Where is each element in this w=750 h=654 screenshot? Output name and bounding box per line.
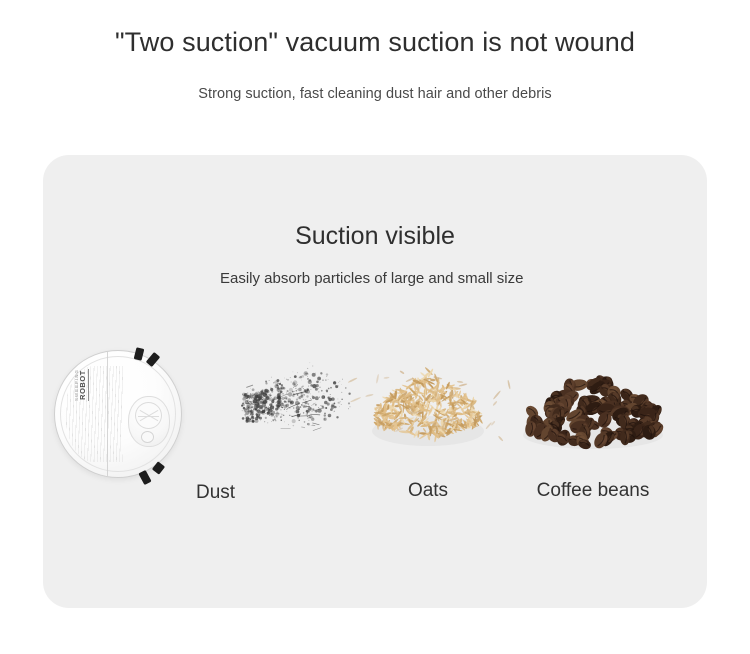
sample-coffee-beans: Coffee beans [483,335,703,520]
robot-fan-icon [135,402,162,429]
sample-row: SWEEPING ROBOT [43,335,707,520]
robot-brand-line-2: ROBOT [79,369,89,401]
robot-body: SWEEPING ROBOT [54,350,182,478]
robot-fan-bar [138,416,159,417]
card-title: Suction visible [43,222,707,251]
robot-brand-label: SWEEPING ROBOT [74,369,89,401]
sample-label-coffee-beans: Coffee beans [483,480,703,502]
product-feature-page: "Two suction" vacuum suction is not woun… [0,0,750,654]
robot-control-panel [128,396,170,446]
sample-label-dust: Dust [196,482,316,504]
robot-power-button [141,431,154,444]
page-subheadline: Strong suction, fast cleaning dust hair … [0,86,750,102]
robot-vacuum: SWEEPING ROBOT [49,345,189,485]
page-headline: "Two suction" vacuum suction is not woun… [0,27,750,58]
coffee-beans-icon [483,335,703,475]
coffee-beans-illustration [483,335,703,475]
card-description: Easily absorb particles of large and sma… [220,269,550,288]
